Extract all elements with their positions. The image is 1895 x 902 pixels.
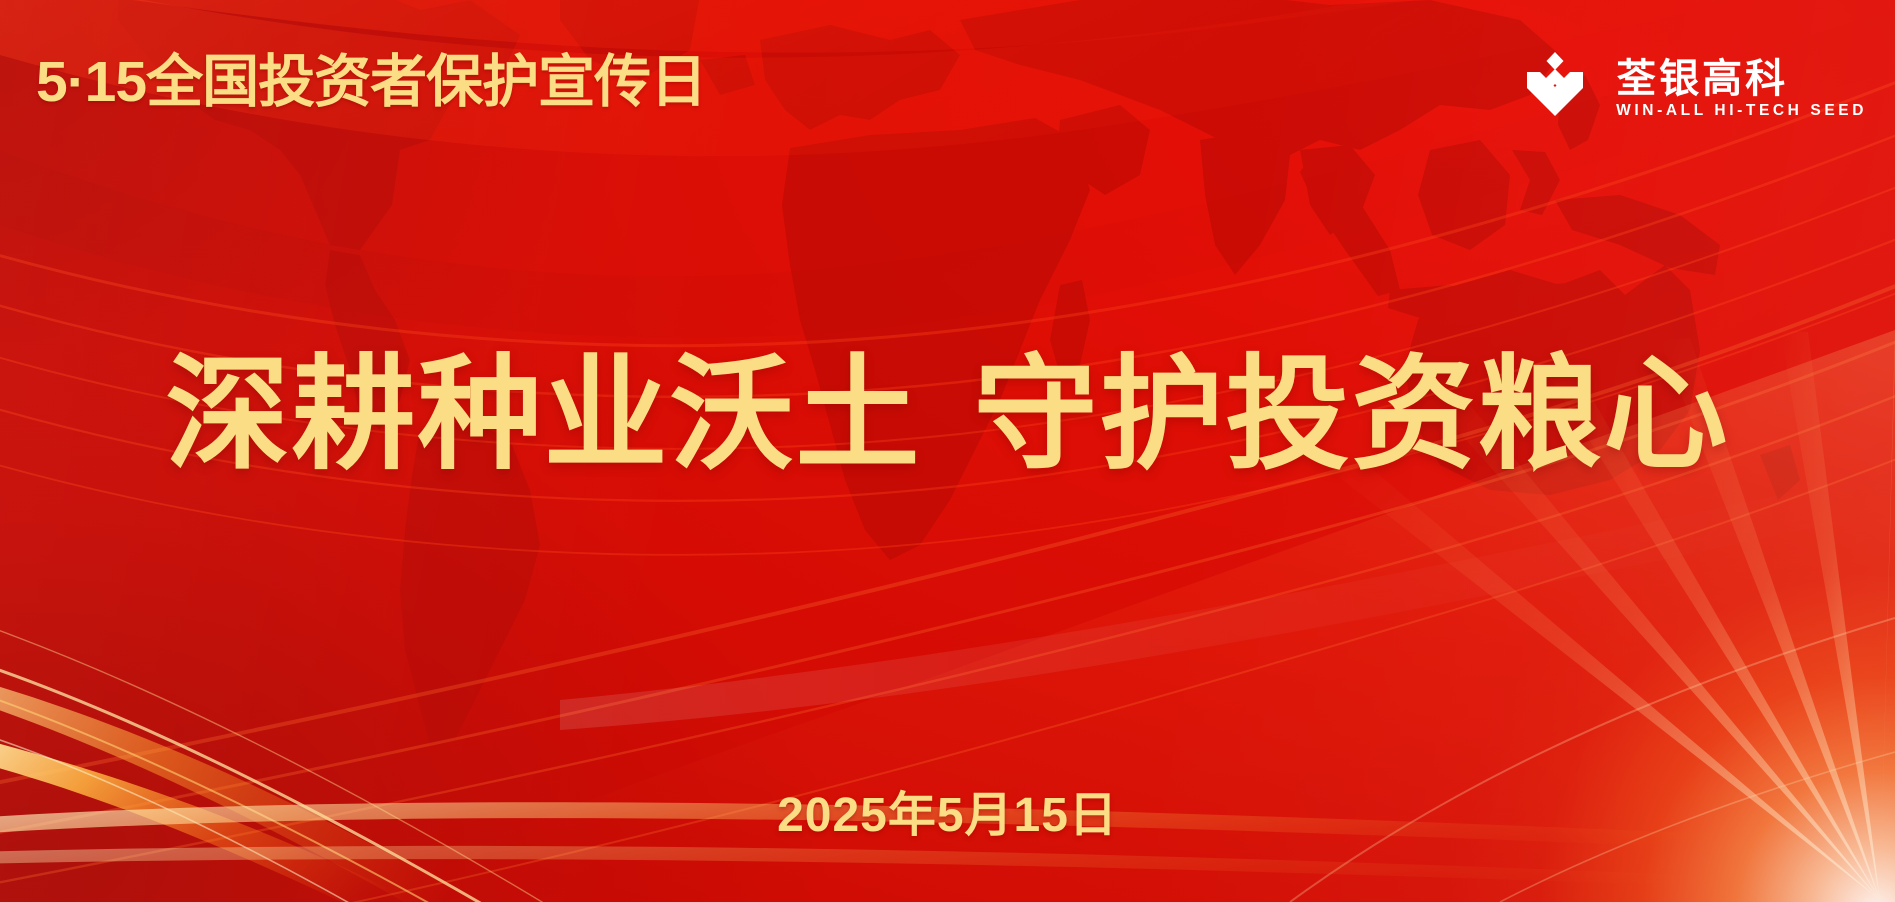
main-title-part-1: 深耕种业沃土 bbox=[165, 346, 921, 484]
logo-name-cn: 荃银高科 bbox=[1616, 59, 1867, 99]
event-eyebrow-title: 5·15全国投资者保护宣传日 bbox=[36, 54, 706, 111]
page-title: 深耕种业沃土守护投资粮心 bbox=[0, 344, 1895, 488]
logo-text-block: 荃银高科 WIN-ALL HI-TECH SEED bbox=[1616, 59, 1867, 119]
logo-name-en: WIN-ALL HI-TECH SEED bbox=[1616, 103, 1867, 119]
event-date: 2025年5月15日 bbox=[0, 792, 1895, 840]
company-logo: 荃银高科 WIN-ALL HI-TECH SEED bbox=[1512, 52, 1867, 126]
chevron-wheat-mark-icon bbox=[1512, 52, 1598, 126]
main-title-part-2: 守护投资粮心 bbox=[974, 346, 1730, 484]
banner-content: 5·15全国投资者保护宣传日 荃银高科 WIN-ALL HI-TECH SEE bbox=[0, 0, 1895, 902]
investor-protection-day-banner: 5·15全国投资者保护宣传日 荃银高科 WIN-ALL HI-TECH SEE bbox=[0, 0, 1895, 902]
